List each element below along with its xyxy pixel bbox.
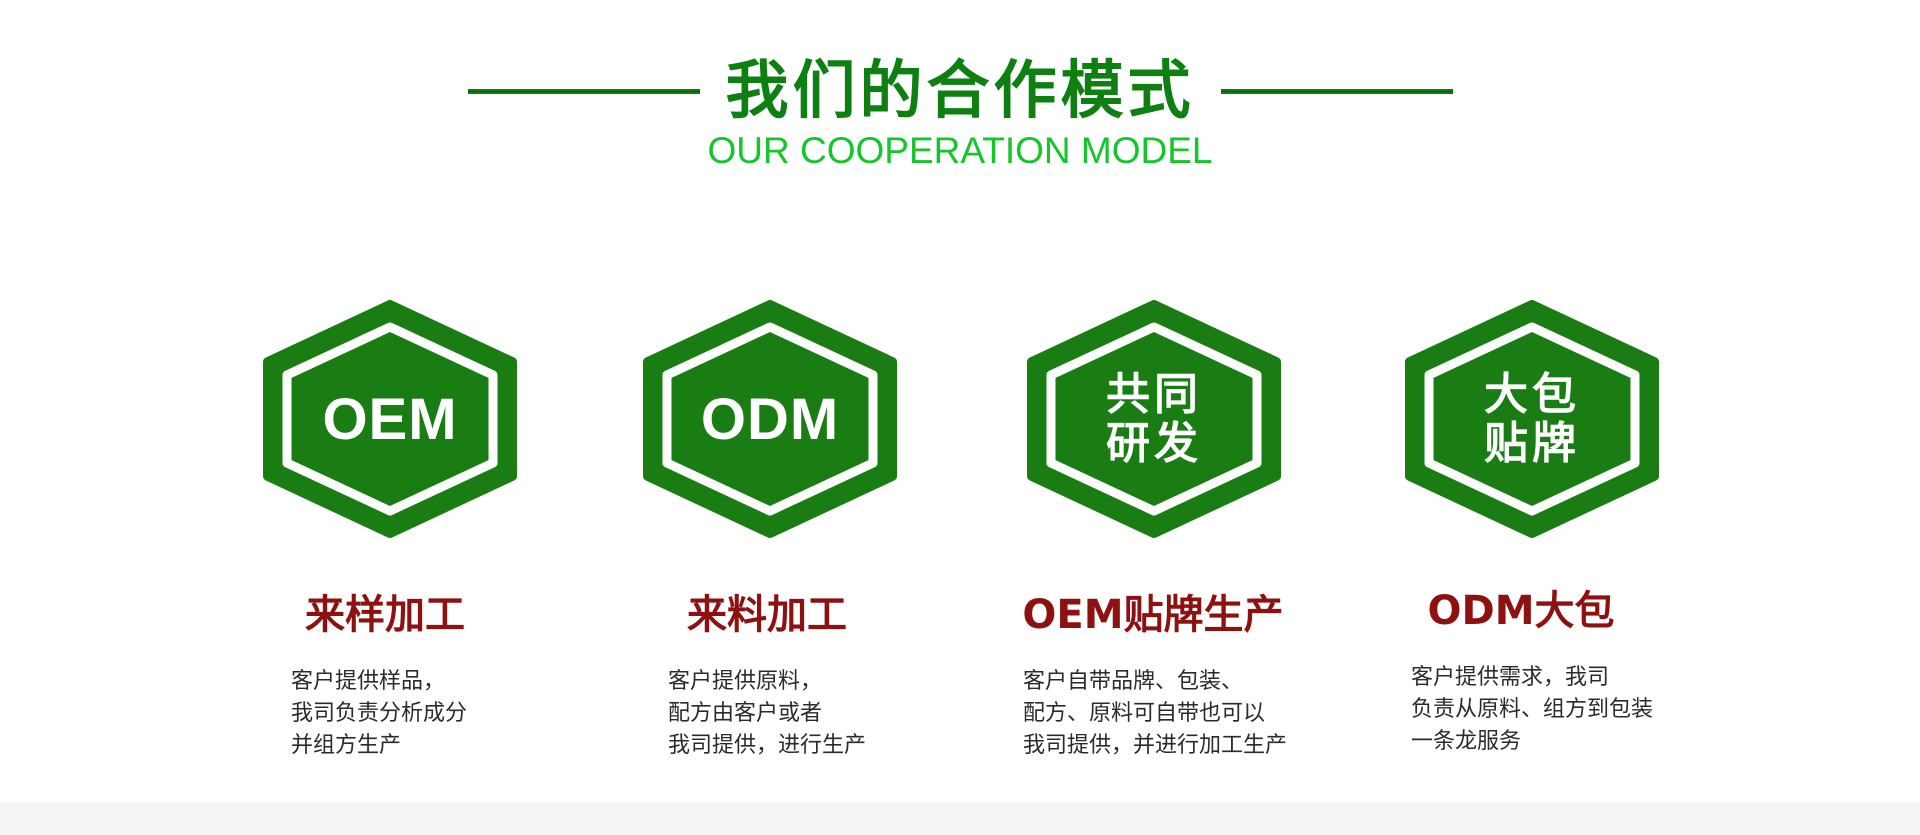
bottom-band xyxy=(0,802,1920,835)
card-heading: 来料加工 xyxy=(687,582,847,640)
card-description: 客户提供需求，我司 负责从原料、组方到包装 一条龙服务 xyxy=(1411,662,1653,758)
model-card[interactable]: 大包 贴牌 ODM大包 客户提供需求，我司 负责从原料、组方到包装 一条龙服务 xyxy=(1340,300,1720,758)
hexagon-inner-icon xyxy=(1401,300,1663,538)
model-card[interactable]: 共同 研发 OEM贴牌生产 客户自带品牌、包装、 配方、原料可自带也可以 我司提… xyxy=(960,300,1340,762)
hexagon-badge: OEM xyxy=(259,300,521,538)
hexagon-badge: 大包 贴牌 xyxy=(1401,300,1663,538)
title-rule-right xyxy=(1221,89,1453,94)
card-heading: ODM大包 xyxy=(1427,578,1614,636)
hexagon-badge: 共同 研发 xyxy=(1023,300,1285,538)
model-card[interactable]: OEM 来样加工 客户提供样品， 我司负责分析成分 并组方生产 xyxy=(200,300,580,762)
page-title: 我们的合作模式 xyxy=(726,58,1195,124)
card-heading: OEM贴牌生产 xyxy=(1022,582,1283,640)
hexagon-badge: ODM xyxy=(639,300,901,538)
card-heading: 来样加工 xyxy=(305,582,465,640)
hexagon-inner-icon xyxy=(639,300,901,538)
card-description: 客户提供原料， 配方由客户或者 我司提供，进行生产 xyxy=(668,666,866,762)
cooperation-model-cards: OEM 来样加工 客户提供样品， 我司负责分析成分 并组方生产 ODM 来料加工… xyxy=(0,300,1920,762)
page-header: 我们的合作模式 OUR COOPERATION MODEL xyxy=(0,0,1920,172)
page-subtitle: OUR COOPERATION MODEL xyxy=(0,130,1920,172)
card-description: 客户提供样品， 我司负责分析成分 并组方生产 xyxy=(291,666,467,762)
card-description: 客户自带品牌、包装、 配方、原料可自带也可以 我司提供，并进行加工生产 xyxy=(1023,666,1287,762)
hexagon-inner-icon xyxy=(1023,300,1285,538)
model-card[interactable]: ODM 来料加工 客户提供原料， 配方由客户或者 我司提供，进行生产 xyxy=(580,300,960,762)
title-row: 我们的合作模式 xyxy=(0,58,1920,124)
title-rule-left xyxy=(468,89,700,94)
hexagon-inner-icon xyxy=(259,300,521,538)
